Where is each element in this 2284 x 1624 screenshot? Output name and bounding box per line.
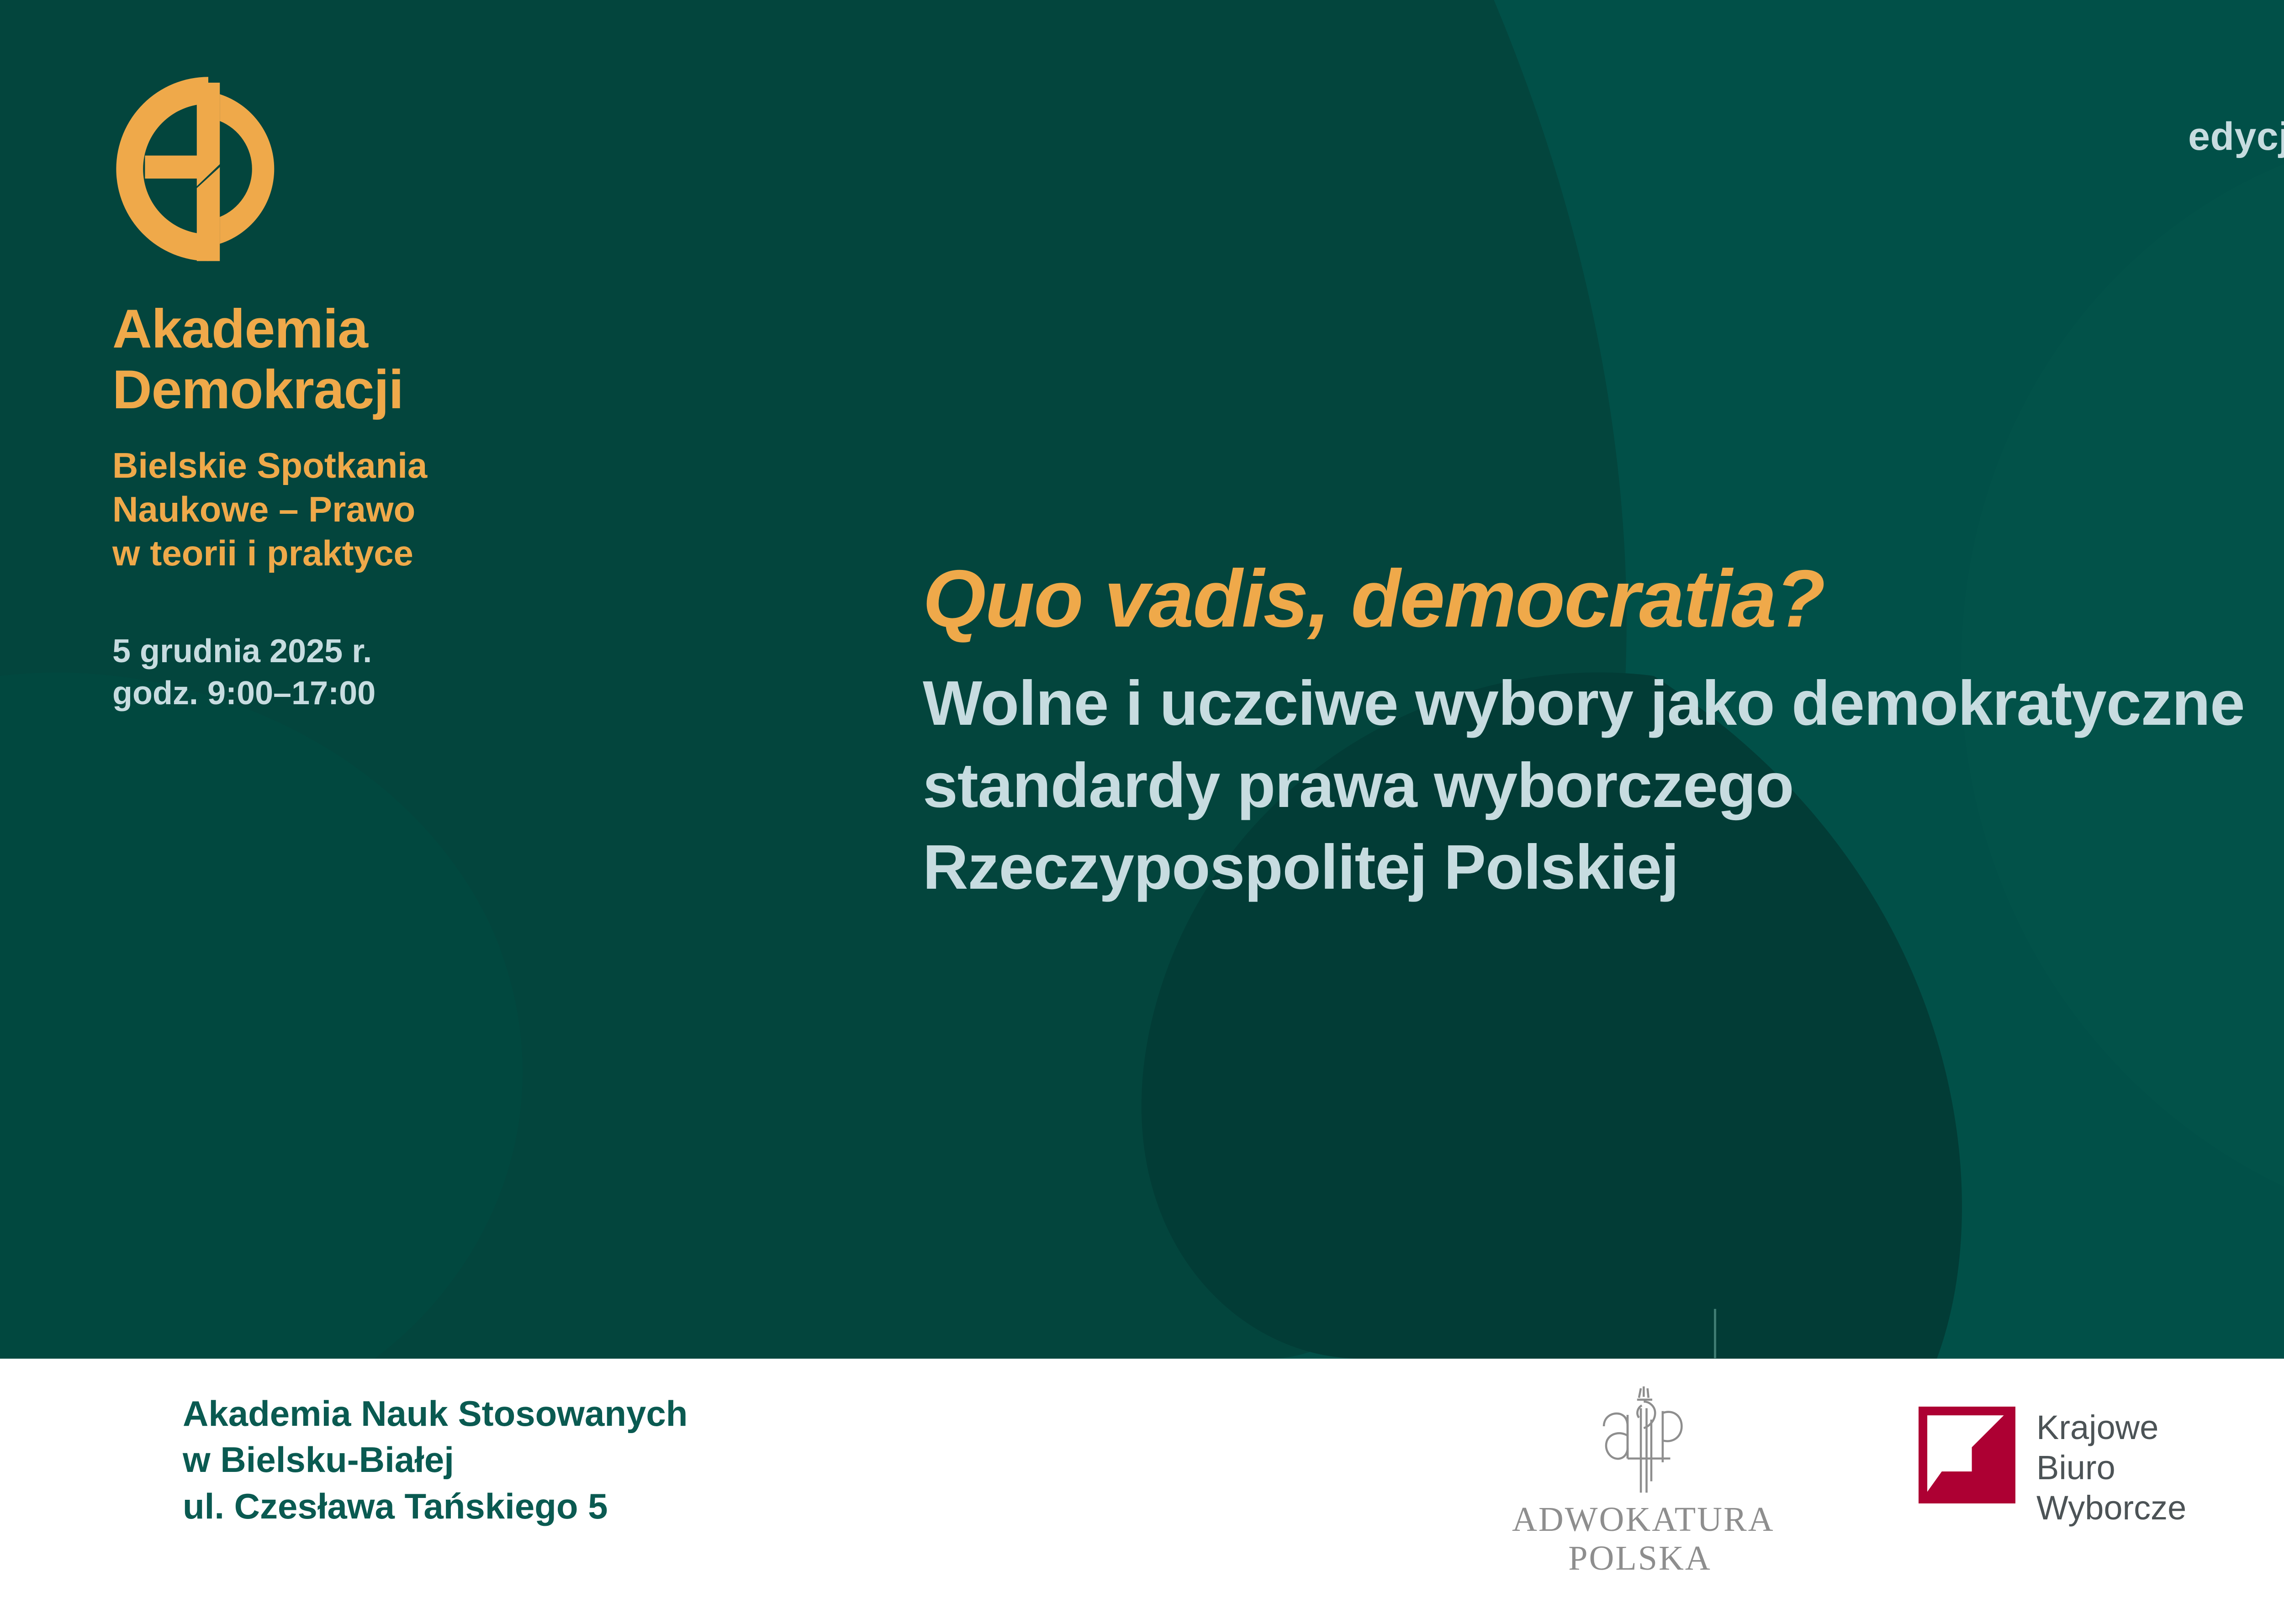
brand-title-line1: Akademia [112, 299, 661, 359]
event-time-line: godz. 9:00–17:00 [112, 672, 661, 714]
brand-subtitle-line1: Bielskie Spotkania [112, 444, 661, 488]
partner-adwokatura-polska: ADWOKATURA POLSKA [1512, 1377, 1768, 1578]
adwokatura-label-line2: POLSKA [1512, 1539, 1768, 1578]
brand-title: Akademia Demokracji [112, 299, 661, 420]
event-date-line: 5 grudnia 2025 r. [112, 630, 661, 672]
brand-subtitle-line3: w teorii i praktyce [112, 532, 661, 575]
event-datetime: 5 grudnia 2025 r. godz. 9:00–17:00 [112, 630, 661, 714]
poster: edycja 4. Akademia [0, 0, 2284, 1624]
footer-divider-line [1714, 1309, 1716, 1358]
organizer-address: Akademia Nauk Stosowanych w Bielsku-Biał… [183, 1391, 687, 1529]
talk-subtitle: Wolne i uczciwe wybory jako demokratyczn… [923, 663, 2284, 908]
brand-column: Akademia Demokracji Bielskie Spotkania N… [112, 73, 661, 715]
krajowe-biuro-wyborcze-square-icon [1919, 1407, 2015, 1503]
main-green-area: edycja 4. Akademia [0, 0, 2284, 1359]
adwokatura-polska-eagle-monogram-icon [1581, 1377, 1699, 1500]
brand-title-line2: Demokracji [112, 359, 661, 420]
adwokatura-label-line1: ADWOKATURA [1512, 1500, 1768, 1539]
brand-subtitle: Bielskie Spotkania Naukowe – Prawo w teo… [112, 444, 661, 575]
kbw-label: Krajowe Biuro Wyborcze [2036, 1407, 2186, 1528]
talk-title: Quo vadis, democratia? [923, 555, 2284, 643]
edition-badge: edycja 4. [2188, 114, 2284, 159]
brand-subtitle-line2: Naukowe – Prawo [112, 488, 661, 532]
footer: Akademia Nauk Stosowanych w Bielsku-Biał… [0, 1359, 2284, 1624]
akademia-demokracji-logo-icon [112, 73, 304, 265]
talk-column: Quo vadis, democratia? Wolne i uczciwe w… [923, 555, 2284, 908]
partner-krajowe-biuro-wyborcze: Krajowe Biuro Wyborcze [1919, 1407, 2186, 1528]
